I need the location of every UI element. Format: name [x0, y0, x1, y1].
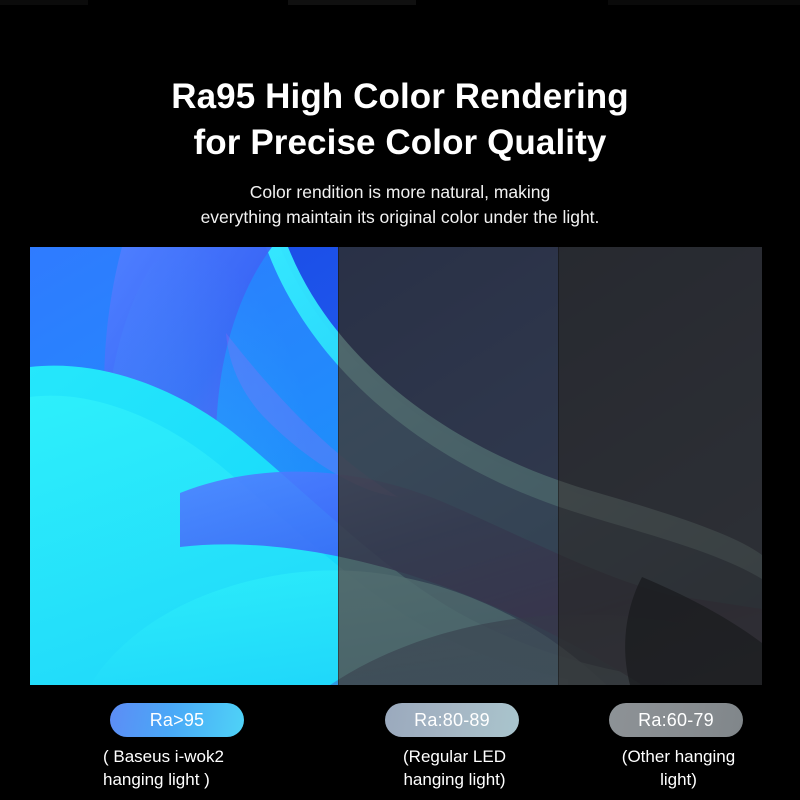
caption-ra60-79-line-2: light)	[606, 768, 751, 791]
cri-badge-ra80-89: Ra:80-89	[385, 703, 519, 737]
caption-ra80-89: (Regular LED hanging light)	[382, 745, 527, 791]
comparison-segment-ra60-79	[558, 247, 762, 685]
headline-line-2: for Precise Color Quality	[0, 120, 800, 166]
caption-ra60-79-line-1: (Other hanging	[622, 747, 735, 766]
cri-badge-ra95-label: Ra>95	[150, 710, 205, 731]
wallpaper-render-muted	[338, 247, 558, 685]
caption-ra95-line-2: hanging light )	[103, 768, 303, 791]
page-title: Ra95 High Color Rendering for Precise Co…	[0, 74, 800, 166]
segment-divider-1	[338, 247, 339, 685]
page-subtitle: Color rendition is more natural, making …	[0, 180, 800, 230]
cri-badge-ra95: Ra>95	[110, 703, 244, 737]
comparison-segment-ra80-89	[338, 247, 558, 685]
headline-line-1: Ra95 High Color Rendering	[171, 77, 629, 116]
top-edge-artifact	[0, 0, 800, 5]
caption-ra80-89-line-2: hanging light)	[382, 768, 527, 791]
caption-ra95-line-1: ( Baseus i-wok2	[103, 747, 224, 766]
cri-badge-ra60-79-label: Ra:60-79	[638, 710, 714, 731]
caption-ra80-89-line-1: (Regular LED	[403, 747, 506, 766]
subtitle-line-1: Color rendition is more natural, making	[250, 182, 551, 202]
cri-badge-ra80-89-label: Ra:80-89	[414, 710, 490, 731]
segment-divider-2	[558, 247, 559, 685]
subtitle-line-2: everything maintain its original color u…	[0, 205, 800, 230]
cri-badge-ra60-79: Ra:60-79	[609, 703, 743, 737]
wallpaper-render-vivid	[30, 247, 338, 685]
color-rendering-comparison-image	[30, 247, 762, 685]
promo-page: Ra95 High Color Rendering for Precise Co…	[0, 0, 800, 800]
caption-ra60-79: (Other hanging light)	[606, 745, 751, 791]
caption-ra95: ( Baseus i-wok2 hanging light )	[85, 745, 303, 791]
wallpaper-render-dull	[558, 247, 762, 685]
comparison-segment-ra95	[30, 247, 338, 685]
